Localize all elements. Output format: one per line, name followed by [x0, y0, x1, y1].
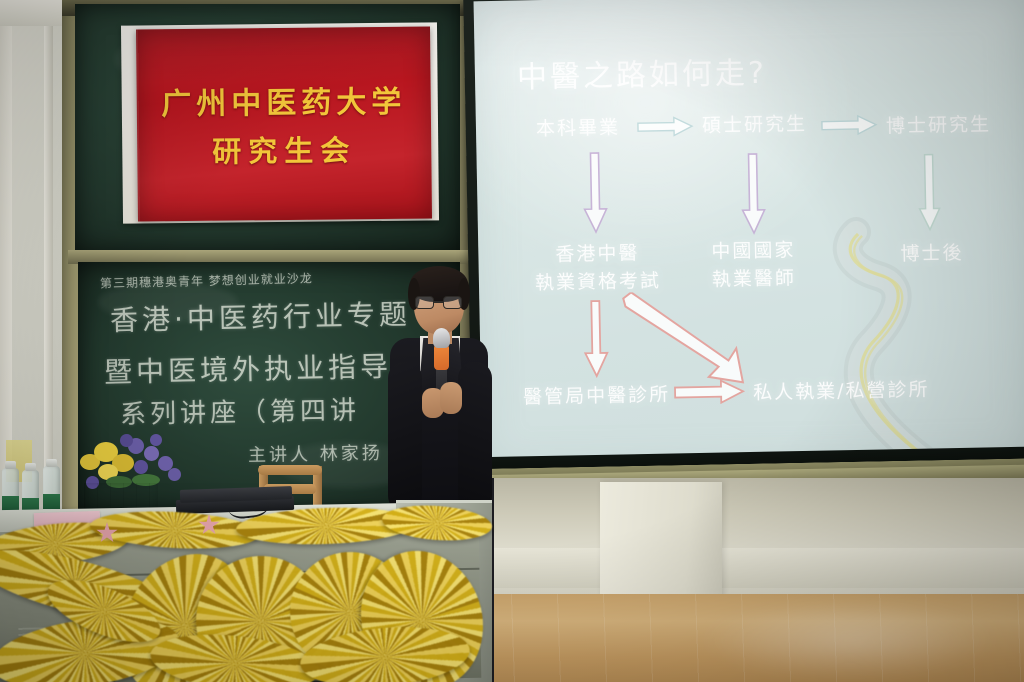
wall-trim-vertical: [44, 0, 53, 500]
arm-left: [388, 362, 422, 512]
chalk-line-4: 主讲人 林家扬: [248, 439, 383, 467]
microphone-head: [433, 328, 450, 348]
stage-wall-lower-band: [468, 548, 1024, 588]
glasses-lens-right: [443, 296, 462, 309]
projection-screen: 中醫之路如何走? 本科畢業 碩士研究生 博士研究生: [474, 0, 1024, 471]
slide-node-cn-licence-line1: 中國國家: [711, 237, 796, 266]
slide-node-bachelor: 本科畢業: [536, 115, 621, 144]
lecture-hall-photo: 广州中医药大学 研究生会 第三期穗港奥青年 梦想创业就业沙龙 香港·中医药行业专…: [0, 0, 1024, 682]
wall-trim-edge: [0, 0, 12, 470]
red-banner: 广州中医药大学 研究生会: [136, 26, 432, 221]
chalk-line-3: 系列讲座（第四讲: [120, 390, 361, 431]
floor-reflection: [700, 600, 1000, 680]
slide-node-hk-exam-line1: 香港中醫: [534, 240, 661, 270]
slide-node-hk-exam: 香港中醫 執業資格考試: [534, 240, 661, 298]
arrow-down-red-icon: [582, 299, 610, 383]
slide-node-ha-clinic: 醫管局中醫診所: [523, 382, 671, 412]
arrow-down-icon-3: [917, 152, 943, 236]
chalk-line-1: 香港·中医药行业专题: [110, 293, 412, 339]
arrow-right-icon-1: [636, 115, 694, 142]
slide-node-private-practice: 私人執業/私營診所: [753, 377, 930, 408]
arm-right: [458, 362, 492, 512]
hand-right: [440, 382, 462, 414]
arrow-down-icon-1: [581, 151, 609, 239]
water-bottle-1: [2, 468, 19, 514]
slide-node-master: 碩士研究生: [702, 111, 808, 141]
wall-top-molding: [0, 0, 62, 26]
chair-backrest-top: [258, 465, 322, 475]
water-bottle-3: [43, 466, 60, 512]
arrow-right-red-icon: [673, 378, 746, 409]
slide-title: 中醫之路如何走?: [517, 48, 768, 97]
glasses-bridge: [434, 301, 443, 303]
slide-node-postdoc: 博士後: [900, 240, 964, 269]
banner-line-2: 研究生会: [212, 127, 356, 171]
slide-node-cn-licence-line2: 執業醫師: [712, 265, 797, 294]
banner-line-1: 广州中医药大学: [161, 77, 406, 124]
slide-node-doctorate: 博士研究生: [886, 111, 992, 141]
speaker: [374, 266, 504, 528]
chalk-line-2: 暨中医境外执业指导: [104, 345, 393, 391]
slide-node-cn-licence: 中國國家 執業醫師: [711, 237, 796, 294]
arrow-right-icon-2: [820, 114, 878, 141]
arrow-down-icon-2: [739, 152, 767, 240]
glasses-lens-left: [415, 296, 434, 309]
